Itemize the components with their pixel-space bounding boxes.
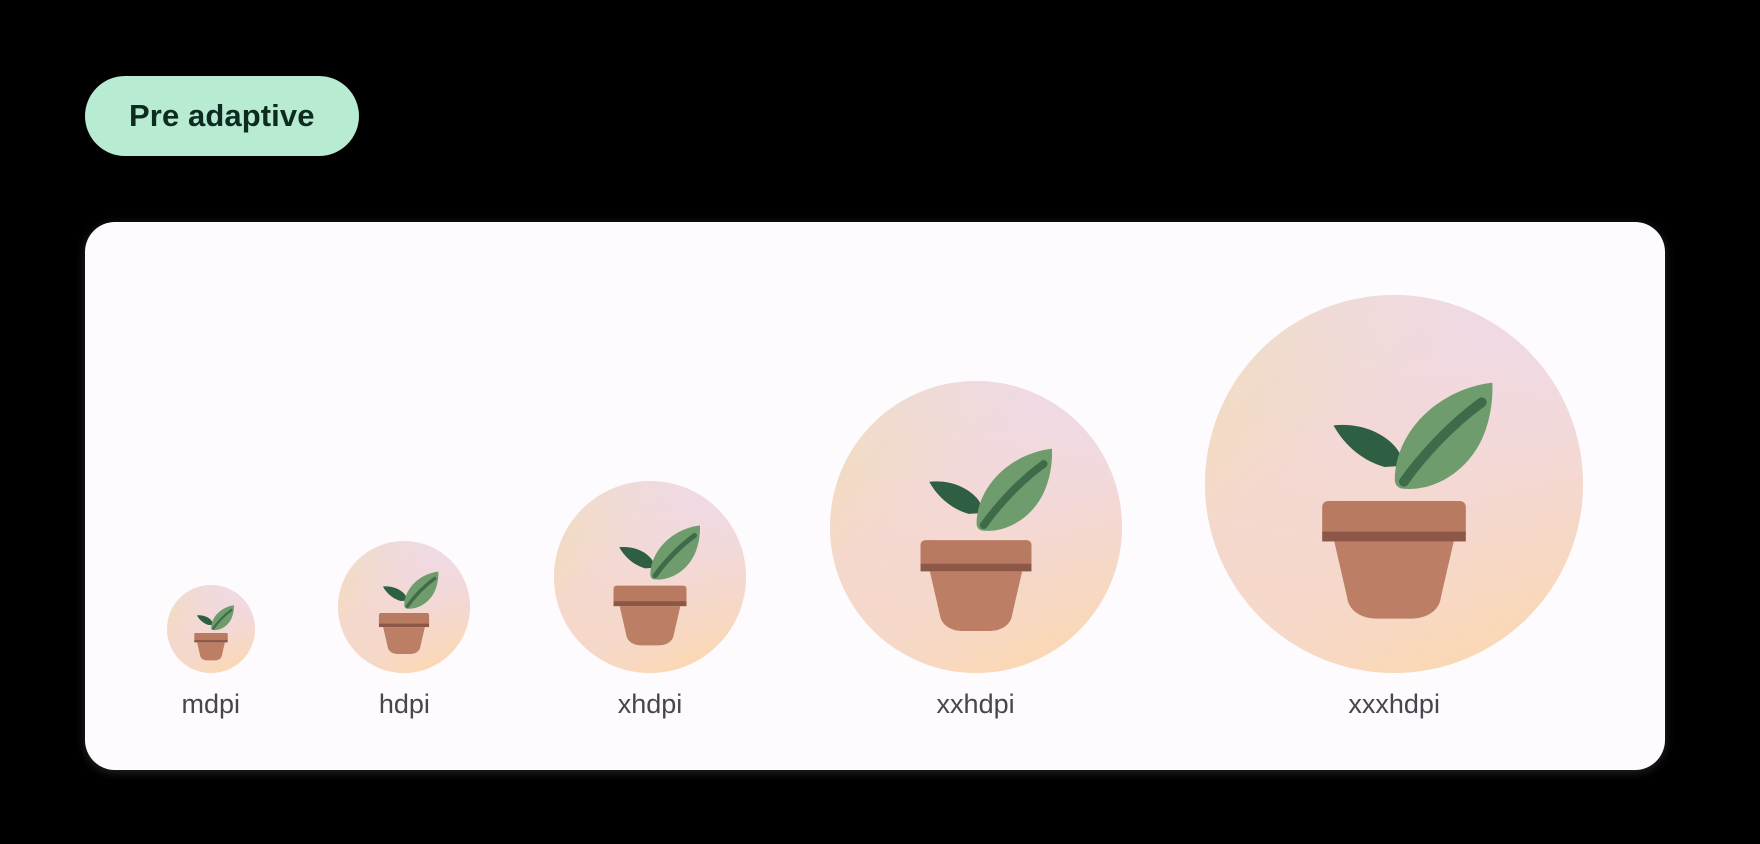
density-item-xxxhdpi[interactable]: xxxhdpi: [1205, 295, 1583, 718]
status-badge: Pre adaptive: [85, 76, 359, 156]
density-label-mdpi: mdpi: [182, 691, 241, 718]
density-label-xhdpi: xhdpi: [618, 691, 683, 718]
plant-icon-mdpi: [167, 585, 255, 673]
plant-icon-xhdpi: [554, 481, 746, 673]
density-item-hdpi[interactable]: hdpi: [338, 541, 470, 718]
status-badge-label: Pre adaptive: [129, 98, 315, 134]
density-list: mdpi hdpi: [85, 222, 1665, 770]
plant-icon-xxhdpi: [830, 381, 1122, 673]
plant-icon-xxxhdpi: [1205, 295, 1583, 673]
density-showcase-card: mdpi hdpi: [85, 222, 1665, 770]
density-label-hdpi: hdpi: [379, 691, 430, 718]
density-item-xhdpi[interactable]: xhdpi: [554, 481, 746, 718]
density-label-xxxhdpi: xxxhdpi: [1348, 691, 1440, 718]
plant-icon-hdpi: [338, 541, 470, 673]
density-item-xxhdpi[interactable]: xxhdpi: [830, 381, 1122, 718]
density-label-xxhdpi: xxhdpi: [937, 691, 1015, 718]
density-item-mdpi[interactable]: mdpi: [167, 585, 255, 718]
